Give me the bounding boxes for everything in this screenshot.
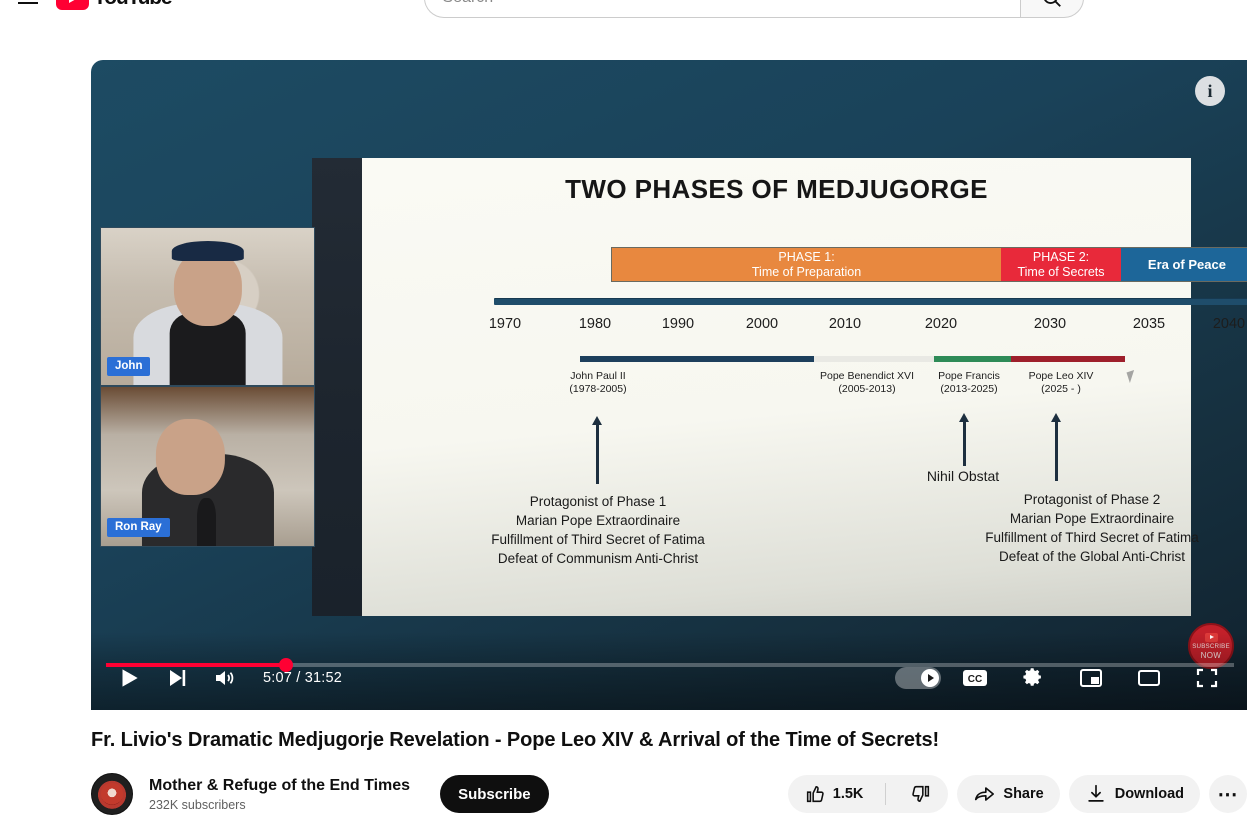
slide-title: TWO PHASES OF MEDJUGORGE xyxy=(362,174,1191,205)
masthead-center: Search xyxy=(260,0,1247,18)
screenshare-edge xyxy=(312,158,364,616)
webcam-name-badge: John xyxy=(107,357,150,376)
blurb-line: Fulfillment of Third Secret of Fatima xyxy=(942,528,1242,547)
control-row: 5:07 / 31:52 CC xyxy=(91,654,1247,702)
search-bar: Search xyxy=(424,0,1084,18)
era-of-peace-label: Era of Peace xyxy=(1148,257,1226,272)
search-input[interactable]: Search xyxy=(424,0,1020,18)
channel-info: Mother & Refuge of the End Times 232K su… xyxy=(149,777,410,812)
presentation-slide: TWO PHASES OF MEDJUGORGE PHASE 1: Time o… xyxy=(362,158,1191,616)
marker-arrow-phase-1 xyxy=(596,424,599,484)
year-label: 2000 xyxy=(746,316,778,332)
thumbs-up-icon xyxy=(804,783,826,805)
youtube-masthead: YouTube Search xyxy=(0,0,1247,26)
phase-segment-2: PHASE 2: Time of Secrets xyxy=(1001,248,1121,281)
papacy-segment-john-paul-ii xyxy=(580,356,814,362)
share-arrow-icon xyxy=(973,783,995,805)
next-button[interactable] xyxy=(153,654,201,702)
control-right-group: CC xyxy=(895,654,1247,702)
volume-icon xyxy=(213,666,237,690)
participant-head xyxy=(156,419,224,495)
closed-captions-icon: CC xyxy=(962,668,988,688)
marker-arrow-nihil-obstat xyxy=(963,421,966,466)
pope-years: (1978-2005) xyxy=(538,383,658,396)
webcam-tile-ron-ray[interactable]: Ron Ray xyxy=(101,387,314,546)
play-button[interactable] xyxy=(105,654,153,702)
blurb-line: Protagonist of Phase 2 xyxy=(942,490,1242,509)
fullscreen-button[interactable] xyxy=(1183,654,1231,702)
subscriber-count: 232K subscribers xyxy=(149,798,410,812)
mouse-cursor xyxy=(1126,370,1137,383)
search-placeholder: Search xyxy=(443,0,494,7)
papacy-segment-benedict-xvi xyxy=(814,356,934,362)
volume-button[interactable] xyxy=(201,654,249,702)
channel-name[interactable]: Mother & Refuge of the End Times xyxy=(149,777,410,795)
search-icon xyxy=(1041,0,1063,9)
papacy-label-leo-xiv: Pope Leo XIV (2025 - ) xyxy=(1001,370,1121,396)
year-label: 2040 xyxy=(1213,316,1245,332)
phase-1-line2: Time of Preparation xyxy=(752,265,861,280)
phase-bar: PHASE 1: Time of Preparation PHASE 2: Ti… xyxy=(611,247,1247,282)
settings-button[interactable] xyxy=(1009,654,1057,702)
webcam-name-badge: Ron Ray xyxy=(107,518,170,537)
participant-cap xyxy=(171,241,243,261)
action-buttons: 1.5K Share xyxy=(788,775,1247,813)
autoplay-knob xyxy=(921,669,939,687)
hamburger-icon[interactable] xyxy=(16,0,40,10)
blurb-line: Fulfillment of Third Secret of Fatima xyxy=(448,530,748,549)
video-meta-row: Mother & Refuge of the End Times 232K su… xyxy=(91,768,1247,820)
blurb-line: Defeat of Communism Anti-Christ xyxy=(448,549,748,568)
share-button[interactable]: Share xyxy=(957,775,1059,813)
time-display: 5:07 / 31:52 xyxy=(263,670,342,686)
phase-2-line1: PHASE 2: xyxy=(1033,250,1089,265)
youtube-play-icon xyxy=(56,0,89,10)
theater-mode-icon xyxy=(1137,668,1161,688)
papacy-segment-francis xyxy=(934,356,1010,362)
year-label: 2010 xyxy=(829,316,861,332)
thumbs-down-icon xyxy=(910,783,932,805)
fullscreen-icon xyxy=(1195,667,1219,689)
blurb-line: Marian Pope Extraordinaire xyxy=(942,509,1242,528)
year-label: 1990 xyxy=(662,316,694,332)
papacy-segment-leo-xiv xyxy=(1011,356,1125,362)
masthead-left: YouTube xyxy=(0,0,260,10)
player-controls: 5:07 / 31:52 CC xyxy=(91,632,1247,710)
channel-avatar[interactable] xyxy=(91,773,133,815)
phase-2-line2: Time of Secrets xyxy=(1017,265,1104,280)
like-count: 1.5K xyxy=(833,786,864,802)
blurb-line: Defeat of the Global Anti-Christ xyxy=(942,547,1242,566)
microphone xyxy=(197,498,216,546)
video-player[interactable]: i TWO PHASES OF MEDJUGORGE PHASE 1: Time… xyxy=(91,60,1247,710)
miniplayer-button[interactable] xyxy=(1067,654,1115,702)
timeline-year-labels: 1970 1980 1990 2000 2010 2020 2030 2035 … xyxy=(482,316,1247,336)
webcam-tile-john[interactable]: John xyxy=(101,228,314,387)
pope-years: (2025 - ) xyxy=(1001,383,1121,396)
blurb-line: Protagonist of Phase 1 xyxy=(448,492,748,511)
marker-arrow-phase-2 xyxy=(1055,421,1058,481)
participant-head xyxy=(173,250,241,326)
youtube-wordmark: YouTube xyxy=(93,0,171,10)
subscribe-button[interactable]: Subscribe xyxy=(440,775,549,813)
info-icon[interactable]: i xyxy=(1195,76,1225,106)
autoplay-toggle[interactable] xyxy=(895,667,941,689)
blurb-phase-2: Protagonist of Phase 2 Marian Pope Extra… xyxy=(942,490,1242,566)
miniplayer-icon xyxy=(1079,668,1103,688)
blurb-phase-1: Protagonist of Phase 1 Marian Pope Extra… xyxy=(448,492,748,568)
play-icon xyxy=(116,665,142,691)
next-track-icon xyxy=(165,666,189,690)
phase-1-line1: PHASE 1: xyxy=(778,250,834,265)
dislike-button[interactable] xyxy=(894,775,948,813)
download-button[interactable]: Download xyxy=(1069,775,1200,813)
blurb-line: Marian Pope Extraordinaire xyxy=(448,511,748,530)
video-title: Fr. Livio's Dramatic Medjugorje Revelati… xyxy=(91,729,939,752)
year-label: 2030 xyxy=(1034,316,1066,332)
youtube-logo[interactable]: YouTube xyxy=(56,0,171,10)
control-left-group: 5:07 / 31:52 xyxy=(91,654,342,702)
share-label: Share xyxy=(1003,786,1043,802)
pope-name: Pope Leo XIV xyxy=(1001,370,1121,383)
theater-button[interactable] xyxy=(1125,654,1173,702)
pope-name: John Paul II xyxy=(538,370,658,383)
papacy-label-john-paul-ii: John Paul II (1978-2005) xyxy=(538,370,658,396)
captions-button[interactable]: CC xyxy=(951,654,999,702)
divider xyxy=(885,783,886,805)
phase-segment-3: Era of Peace xyxy=(1121,248,1247,281)
year-label: 1970 xyxy=(489,316,521,332)
download-icon xyxy=(1085,783,1107,805)
gear-icon xyxy=(1021,666,1045,690)
phase-segment-1: PHASE 1: Time of Preparation xyxy=(612,248,1001,281)
webcam-tiles: John Ron Ray xyxy=(100,227,315,547)
search-button[interactable] xyxy=(1020,0,1084,18)
year-label: 2020 xyxy=(925,316,957,332)
download-label: Download xyxy=(1115,786,1184,802)
more-options-button[interactable]: ⋯ xyxy=(1209,775,1247,813)
like-dislike-group: 1.5K xyxy=(788,775,949,813)
like-button[interactable]: 1.5K xyxy=(788,775,878,813)
svg-text:CC: CC xyxy=(968,674,982,685)
timeline-axis xyxy=(494,298,1247,305)
year-label: 1980 xyxy=(579,316,611,332)
nihil-obstat-label: Nihil Obstat xyxy=(927,468,999,484)
year-label: 2035 xyxy=(1133,316,1165,332)
papacy-bar xyxy=(580,356,1125,362)
